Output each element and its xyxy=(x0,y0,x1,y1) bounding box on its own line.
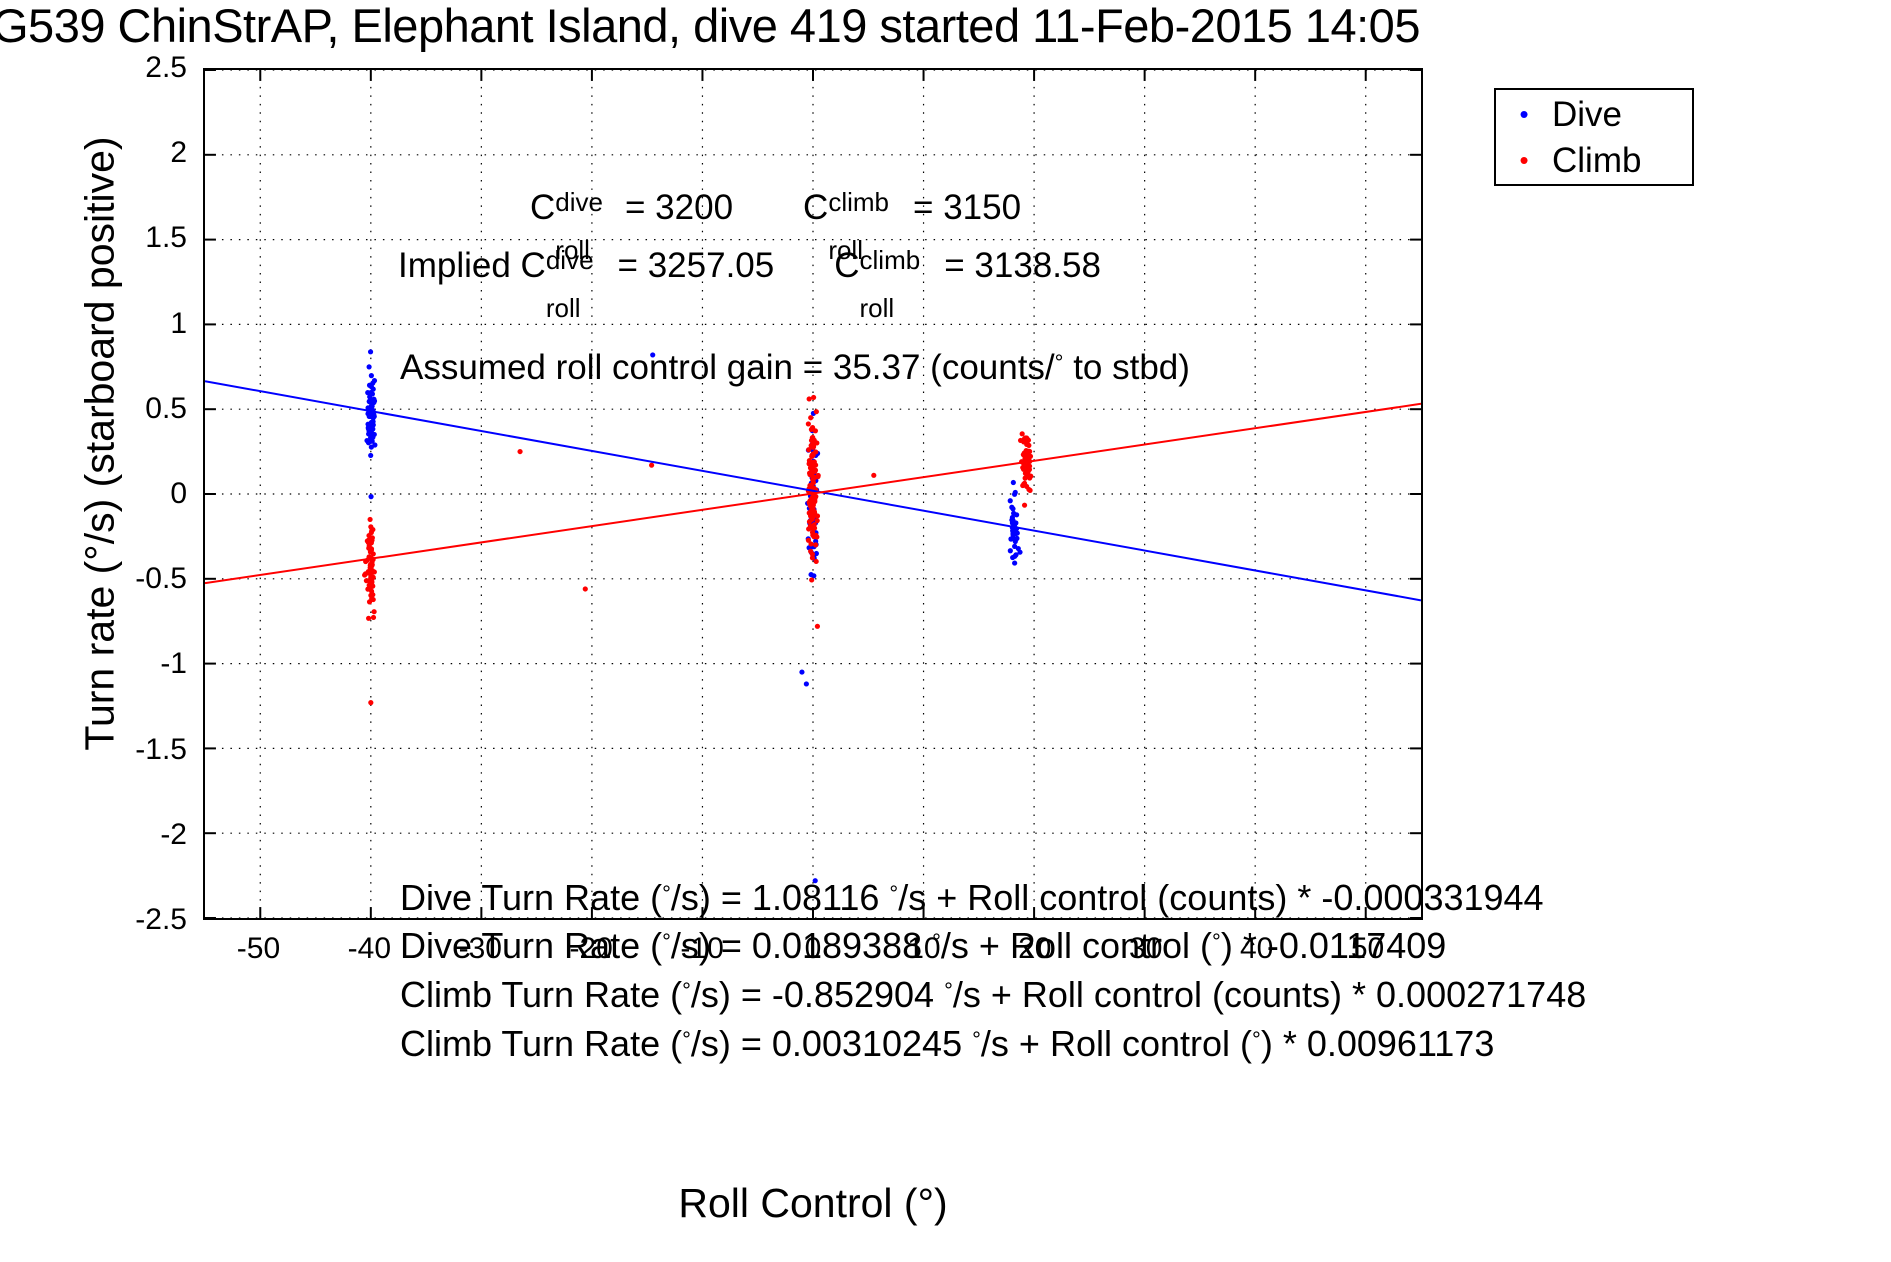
c-dive-symbol: C xyxy=(530,188,555,227)
degree-symbol-icon: ° xyxy=(662,929,671,954)
y-tick-label: 2.5 xyxy=(117,53,187,83)
c-climb-symbol: C xyxy=(803,188,828,227)
series-dive xyxy=(364,349,1022,883)
y-tick-label: -2.5 xyxy=(117,905,187,935)
implied-dive-value: = 3257.05 xyxy=(608,246,774,285)
eq3-part-c: /s + Roll control (counts) * 0.000271748 xyxy=(953,974,1586,1015)
implied-climb-value: = 3138.58 xyxy=(935,246,1101,285)
implied-climb-symbol: C xyxy=(834,246,859,285)
degree-symbol-icon: ° xyxy=(1252,1027,1261,1052)
c-dive-value: = 3200 xyxy=(615,188,733,227)
degree-symbol-icon: ° xyxy=(682,1027,691,1052)
implied-dive-subscript: roll xyxy=(546,295,581,321)
gain-text-pre: Assumed roll control gain = 35.37 (count… xyxy=(400,348,1055,387)
eq1-part-c: /s + Roll control (counts) * -0.00033194… xyxy=(898,877,1543,918)
y-tick-label: -1.5 xyxy=(117,735,187,765)
implied-climb-subscript: roll xyxy=(860,295,895,321)
implied-prefix: Implied C xyxy=(398,246,546,285)
x-tick-label: -40 xyxy=(329,934,409,964)
dive-marker-icon: • xyxy=(1496,101,1552,127)
y-tick-label: 2 xyxy=(117,138,187,168)
annotation-roll-control-gain: Assumed roll control gain = 35.37 (count… xyxy=(400,350,1190,385)
degree-symbol-icon: ° xyxy=(932,929,941,954)
annotation-implied-c-roll: Implied Cdiveroll = 3257.05Cclimbroll = … xyxy=(398,248,1101,283)
eq4-part-d: ) * 0.00961173 xyxy=(1261,1023,1495,1064)
y-tick-label: 1.5 xyxy=(117,223,187,253)
implied-climb-superscript: climb xyxy=(860,247,921,273)
degree-symbol-icon: ° xyxy=(944,978,953,1003)
y-tick-label: 1 xyxy=(117,309,187,339)
x-tick-label: -50 xyxy=(218,934,298,964)
eq2-part-a: Dive Turn Rate ( xyxy=(400,925,662,966)
y-tick-label: 0 xyxy=(117,479,187,509)
y-tick-label: -2 xyxy=(117,820,187,850)
eq3-part-b: /s) = -0.852904 xyxy=(691,974,944,1015)
eq3-part-a: Climb Turn Rate ( xyxy=(400,974,682,1015)
gain-text-post: to stbd) xyxy=(1063,348,1189,387)
x-axis-label: Roll Control (°) xyxy=(203,1180,1423,1227)
legend-item-climb[interactable]: • Climb xyxy=(1496,138,1692,182)
equation-dive-counts: Dive Turn Rate (°/s) = 1.08116 °/s + Rol… xyxy=(400,880,1544,916)
equation-dive-degrees: Dive Turn Rate (°/s) = 0.0189388 °/s + R… xyxy=(400,928,1446,964)
degree-symbol-icon: ° xyxy=(972,1027,981,1052)
y-tick-label: -0.5 xyxy=(117,564,187,594)
series-climb xyxy=(362,395,1033,705)
annotation-c-roll-setpoints: Cdiveroll = 3200Cclimbroll = 3150 xyxy=(530,190,1021,225)
degree-symbol-icon: ° xyxy=(889,881,898,906)
eq2-part-b: /s) = 0.0189388 xyxy=(671,925,932,966)
eq1-part-b: /s) = 1.08116 xyxy=(671,877,889,918)
equation-climb-degrees: Climb Turn Rate (°/s) = 0.00310245 °/s +… xyxy=(400,1026,1494,1062)
legend-item-dive[interactable]: • Dive xyxy=(1496,92,1692,136)
equation-climb-counts: Climb Turn Rate (°/s) = -0.852904 °/s + … xyxy=(400,977,1586,1013)
legend-label-dive: Dive xyxy=(1552,97,1622,132)
eq2-part-d: ) * -0.0117409 xyxy=(1221,925,1447,966)
legend-label-climb: Climb xyxy=(1552,143,1641,178)
degree-symbol-icon: ° xyxy=(1212,929,1221,954)
c-climb-superscript: climb xyxy=(828,189,889,215)
page-title: G539 ChinStrAP, Elephant Island, dive 41… xyxy=(0,2,1891,49)
climb-marker-icon: • xyxy=(1496,147,1552,173)
y-tick-label: 0.5 xyxy=(117,394,187,424)
degree-symbol-icon: ° xyxy=(682,978,691,1003)
legend[interactable]: • Dive • Climb xyxy=(1494,88,1694,186)
eq4-part-c: /s + Roll control ( xyxy=(981,1023,1252,1064)
eq4-part-a: Climb Turn Rate ( xyxy=(400,1023,682,1064)
eq1-part-a: Dive Turn Rate ( xyxy=(400,877,662,918)
c-climb-value: = 3150 xyxy=(903,188,1021,227)
eq2-part-c: /s + Roll control ( xyxy=(941,925,1212,966)
implied-dive-superscript: dive xyxy=(546,247,594,273)
c-dive-superscript: dive xyxy=(555,189,603,215)
y-tick-label: -1 xyxy=(117,649,187,679)
eq4-part-b: /s) = 0.00310245 xyxy=(691,1023,972,1064)
degree-symbol-icon: ° xyxy=(662,881,671,906)
